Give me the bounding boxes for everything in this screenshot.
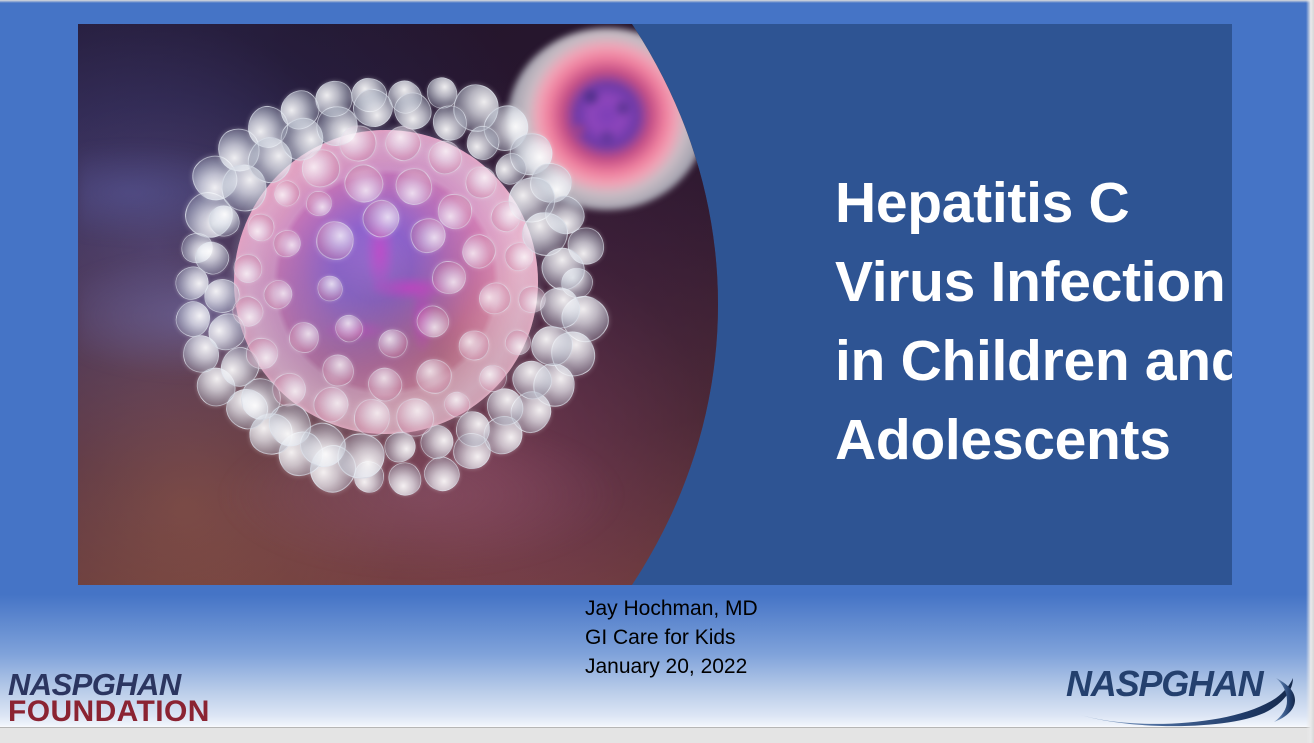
presenter-affiliation: GI Care for Kids [585, 623, 758, 652]
presentation-slide: Hepatitis C Virus Infection in Children … [0, 0, 1314, 743]
title-line-4: Adolescents [835, 401, 1232, 480]
title-panel: Hepatitis C Virus Infection in Children … [78, 24, 1232, 585]
primary-virion [176, 72, 596, 492]
title-line-1: Hepatitis C [835, 164, 1232, 243]
virus-photo [78, 24, 738, 585]
title-line-2: Virus Infection [835, 243, 1232, 322]
naspghan-foundation-logo: NASPGHAN FOUNDATION [8, 669, 210, 727]
naspghan-logo: NASPGHAN [1062, 666, 1300, 728]
virion-spike [531, 326, 573, 366]
footer-strip [0, 728, 1314, 743]
presenter-name: Jay Hochman, MD [585, 594, 758, 623]
slide-subtitle: Jay Hochman, MD GI Care for Kids January… [585, 594, 758, 681]
foundation-logo-subword: FOUNDATION [8, 697, 210, 727]
virion-spike [416, 359, 452, 394]
presentation-date: January 20, 2022 [585, 652, 758, 681]
slide-right-edge [1306, 0, 1314, 743]
slide-title: Hepatitis C Virus Infection in Children … [835, 164, 1232, 480]
virion-spike [378, 329, 407, 357]
slide-top-edge [0, 0, 1314, 3]
naspghan-swoosh-icon [1062, 676, 1300, 728]
title-line-3: in Children and [835, 322, 1232, 401]
virion-spike [479, 365, 507, 392]
